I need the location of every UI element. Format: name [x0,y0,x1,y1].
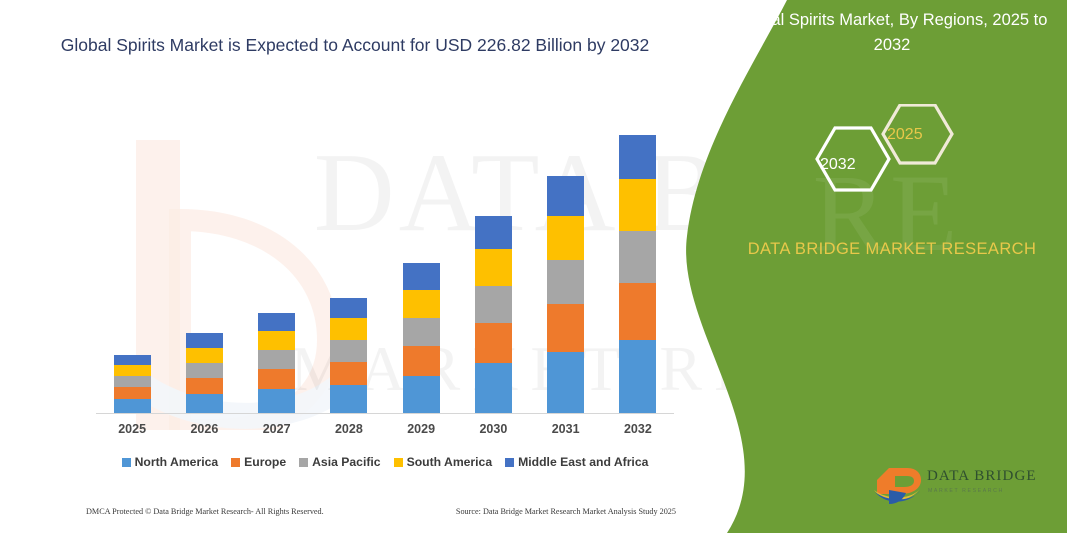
bar-segment [330,385,367,413]
legend-label: North America [135,455,219,469]
x-axis-label: 2032 [602,422,674,436]
hexagon-2025-label: 2025 [887,126,923,144]
bar-segment [547,216,584,260]
bar-segment [547,176,584,216]
x-axis-label: 2030 [457,422,529,436]
chart-title: Global Spirits Market is Expected to Acc… [60,32,650,58]
legend-item[interactable]: South America [394,455,493,469]
footer: DMCA Protected © Data Bridge Market Rese… [86,507,676,516]
legend-label: Middle East and Africa [518,455,648,469]
bar-segment [186,363,223,378]
green-side-panel: RE Global Spirits Market, By Regions, 20… [667,0,1067,533]
legend-item[interactable]: North America [122,455,219,469]
legend-label: Europe [244,455,286,469]
bar-column [96,100,168,413]
bar-stack [330,298,367,413]
bar-column [241,100,313,413]
bar-segment [186,378,223,394]
logo-title-text: DATA BRIDGE [927,468,1037,485]
bar-segment [475,323,512,363]
green-panel-shape: RE [667,0,1067,533]
x-axis-label: 2029 [385,422,457,436]
bar-segment [619,283,656,340]
data-bridge-logo: DATA BRIDGE MARKET RESEARCH [873,460,1053,516]
footer-source: Source: Data Bridge Market Research Mark… [456,507,676,516]
bar-stack [547,176,584,413]
bar-segment [475,286,512,323]
legend-label: South America [407,455,493,469]
bar-stack [114,355,151,413]
legend-swatch [231,458,240,467]
legend-item[interactable]: Middle East and Africa [505,455,648,469]
bar-column [168,100,240,413]
bar-segment [330,318,367,340]
bar-segment [547,304,584,352]
bar-segment [619,340,656,413]
bar-column [385,100,457,413]
bar-segment [258,331,295,350]
bar-segment [258,350,295,369]
legend-label: Asia Pacific [312,455,380,469]
x-axis-label: 2027 [241,422,313,436]
x-axis-line [96,413,674,414]
bar-segment [114,365,151,376]
bar-segment [403,290,440,318]
bar-column [530,100,602,413]
bar-segment [186,394,223,413]
bar-segment [475,249,512,286]
bar-segment [258,313,295,331]
bar-segment [475,216,512,249]
bar-segment [330,340,367,362]
panel-brand-text: DATA BRIDGE MARKET RESEARCH [727,238,1057,262]
panel-title: Global Spirits Market, By Regions, 2025 … [727,8,1057,58]
x-axis-label: 2031 [530,422,602,436]
bar-segment [403,376,440,413]
legend-swatch [505,458,514,467]
bar-stack [475,216,512,413]
x-axis-label: 2025 [96,422,168,436]
logo-subtitle-text: MARKET RESEARCH [928,488,1004,494]
bar-segment [547,260,584,304]
legend-swatch [299,458,308,467]
x-axis-labels: 20252026202720282029203020312032 [96,422,674,436]
legend-item[interactable]: Asia Pacific [299,455,380,469]
bar-column [457,100,529,413]
bar-segment [403,346,440,376]
hexagon-group: 2032 2025 [787,104,1057,214]
bar-chart-plot [96,100,674,413]
bar-segment [114,387,151,399]
bar-segment [547,352,584,413]
bar-column [313,100,385,413]
bar-segment [619,135,656,179]
bar-segment [619,179,656,231]
bar-segment [475,363,512,413]
bar-segment [114,376,151,387]
infographic-page: DATA BRIDGE MARKET RESEARCH Global Spiri… [0,0,1067,533]
legend-item[interactable]: Europe [231,455,286,469]
bar-stack [258,313,295,413]
bar-stack [403,263,440,413]
x-axis-label: 2026 [168,422,240,436]
bar-segment [114,355,151,365]
bar-column [602,100,674,413]
legend-swatch [122,458,131,467]
bar-segment [114,399,151,413]
x-axis-label: 2028 [313,422,385,436]
bar-segment [403,263,440,290]
bar-segment [330,362,367,385]
bar-segment [186,333,223,348]
bar-segment [258,369,295,389]
bar-segment [403,318,440,346]
footer-copyright: DMCA Protected © Data Bridge Market Rese… [86,507,324,516]
legend-swatch [394,458,403,467]
bar-segment [619,231,656,283]
bar-segment [258,389,295,413]
bar-stack [619,135,656,413]
logo-mark-icon [873,460,925,510]
bar-segment [186,348,223,363]
bar-stack [186,333,223,413]
hexagon-2032-label: 2032 [820,156,856,174]
chart-legend: North AmericaEuropeAsia PacificSouth Ame… [96,455,674,469]
bar-segment [330,298,367,318]
